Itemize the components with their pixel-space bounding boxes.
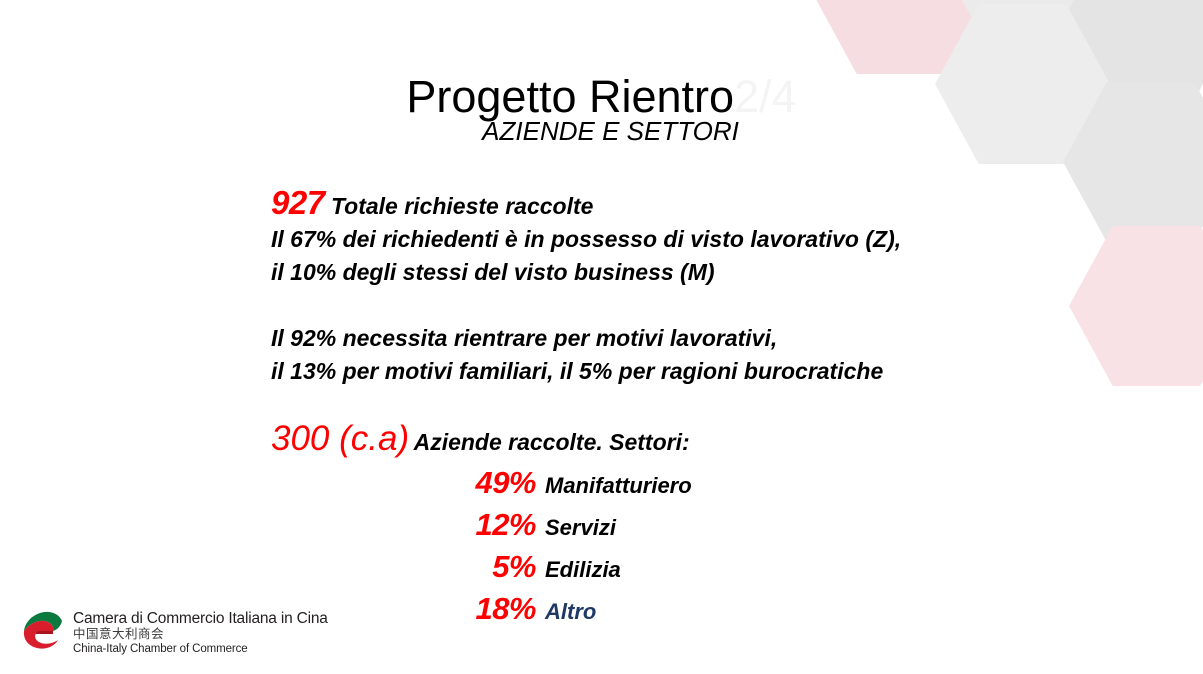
sector-name: Edilizia	[536, 557, 621, 583]
sector-row: 49%Manifatturiero	[271, 465, 971, 507]
page-title-text: Progetto Rientro	[406, 71, 734, 122]
sector-name: Altro	[536, 599, 596, 625]
total-requests-label: Totale richieste raccolte	[331, 193, 593, 219]
slide-canvas: Progetto Rientro2/4 AZIENDE E SETTORI 92…	[0, 0, 1203, 674]
title-block: Progetto Rientro2/4 AZIENDE E SETTORI	[0, 72, 1203, 146]
reason-line-2: il 13% per motivi familiari, il 5% per r…	[271, 355, 1131, 388]
page-title: Progetto Rientro2/4	[0, 72, 1203, 122]
paragraph-spacer	[271, 289, 1131, 322]
logo-line-english: China-Italy Chamber of Commerce	[73, 642, 328, 656]
total-requests-line: 927 Totale richieste raccolte	[271, 186, 1131, 223]
reason-line-1: Il 92% necessita rientrare per motivi la…	[271, 322, 1131, 355]
chamber-of-commerce-logo-icon	[14, 609, 66, 657]
sector-percentage: 12%	[271, 507, 536, 543]
sector-percentage: 5%	[271, 549, 536, 585]
page-title-number: 2/4	[734, 71, 797, 122]
companies-label: Aziende raccolte. Settori:	[414, 429, 690, 455]
logo-line-italian: Camera di Commercio Italiana in Cina	[73, 610, 328, 627]
sector-row: 5%Edilizia	[271, 549, 971, 591]
total-requests-value: 927	[271, 184, 325, 221]
sector-row: 18%Altro	[271, 591, 971, 633]
sector-name: Servizi	[536, 515, 616, 541]
sector-list: 49%Manifatturiero12%Servizi5%Edilizia18%…	[271, 465, 971, 633]
logo-text: Camera di Commercio Italiana in Cina 中国意…	[73, 610, 328, 656]
visa-line-1: Il 67% dei richiedenti è in possesso di …	[271, 223, 1131, 256]
sector-percentage: 49%	[271, 465, 536, 501]
statistics-block: 927 Totale richieste raccolte Il 67% dei…	[271, 186, 1131, 388]
companies-block: 300 (c.a) Aziende raccolte. Settori:	[271, 418, 1131, 467]
logo-line-chinese: 中国意大利商会	[73, 627, 328, 642]
page-subtitle: AZIENDE E SETTORI	[0, 116, 1203, 146]
companies-heading: 300 (c.a) Aziende raccolte. Settori:	[271, 418, 1131, 467]
companies-value: 300 (c.a)	[271, 419, 409, 458]
sector-row: 12%Servizi	[271, 507, 971, 549]
visa-line-2: il 10% degli stessi del visto business (…	[271, 256, 1131, 289]
sector-name: Manifatturiero	[536, 473, 692, 499]
hex-pink-top	[813, 0, 988, 74]
logo: Camera di Commercio Italiana in Cina 中国意…	[14, 609, 328, 657]
hex-gray-top	[939, 0, 1114, 38]
